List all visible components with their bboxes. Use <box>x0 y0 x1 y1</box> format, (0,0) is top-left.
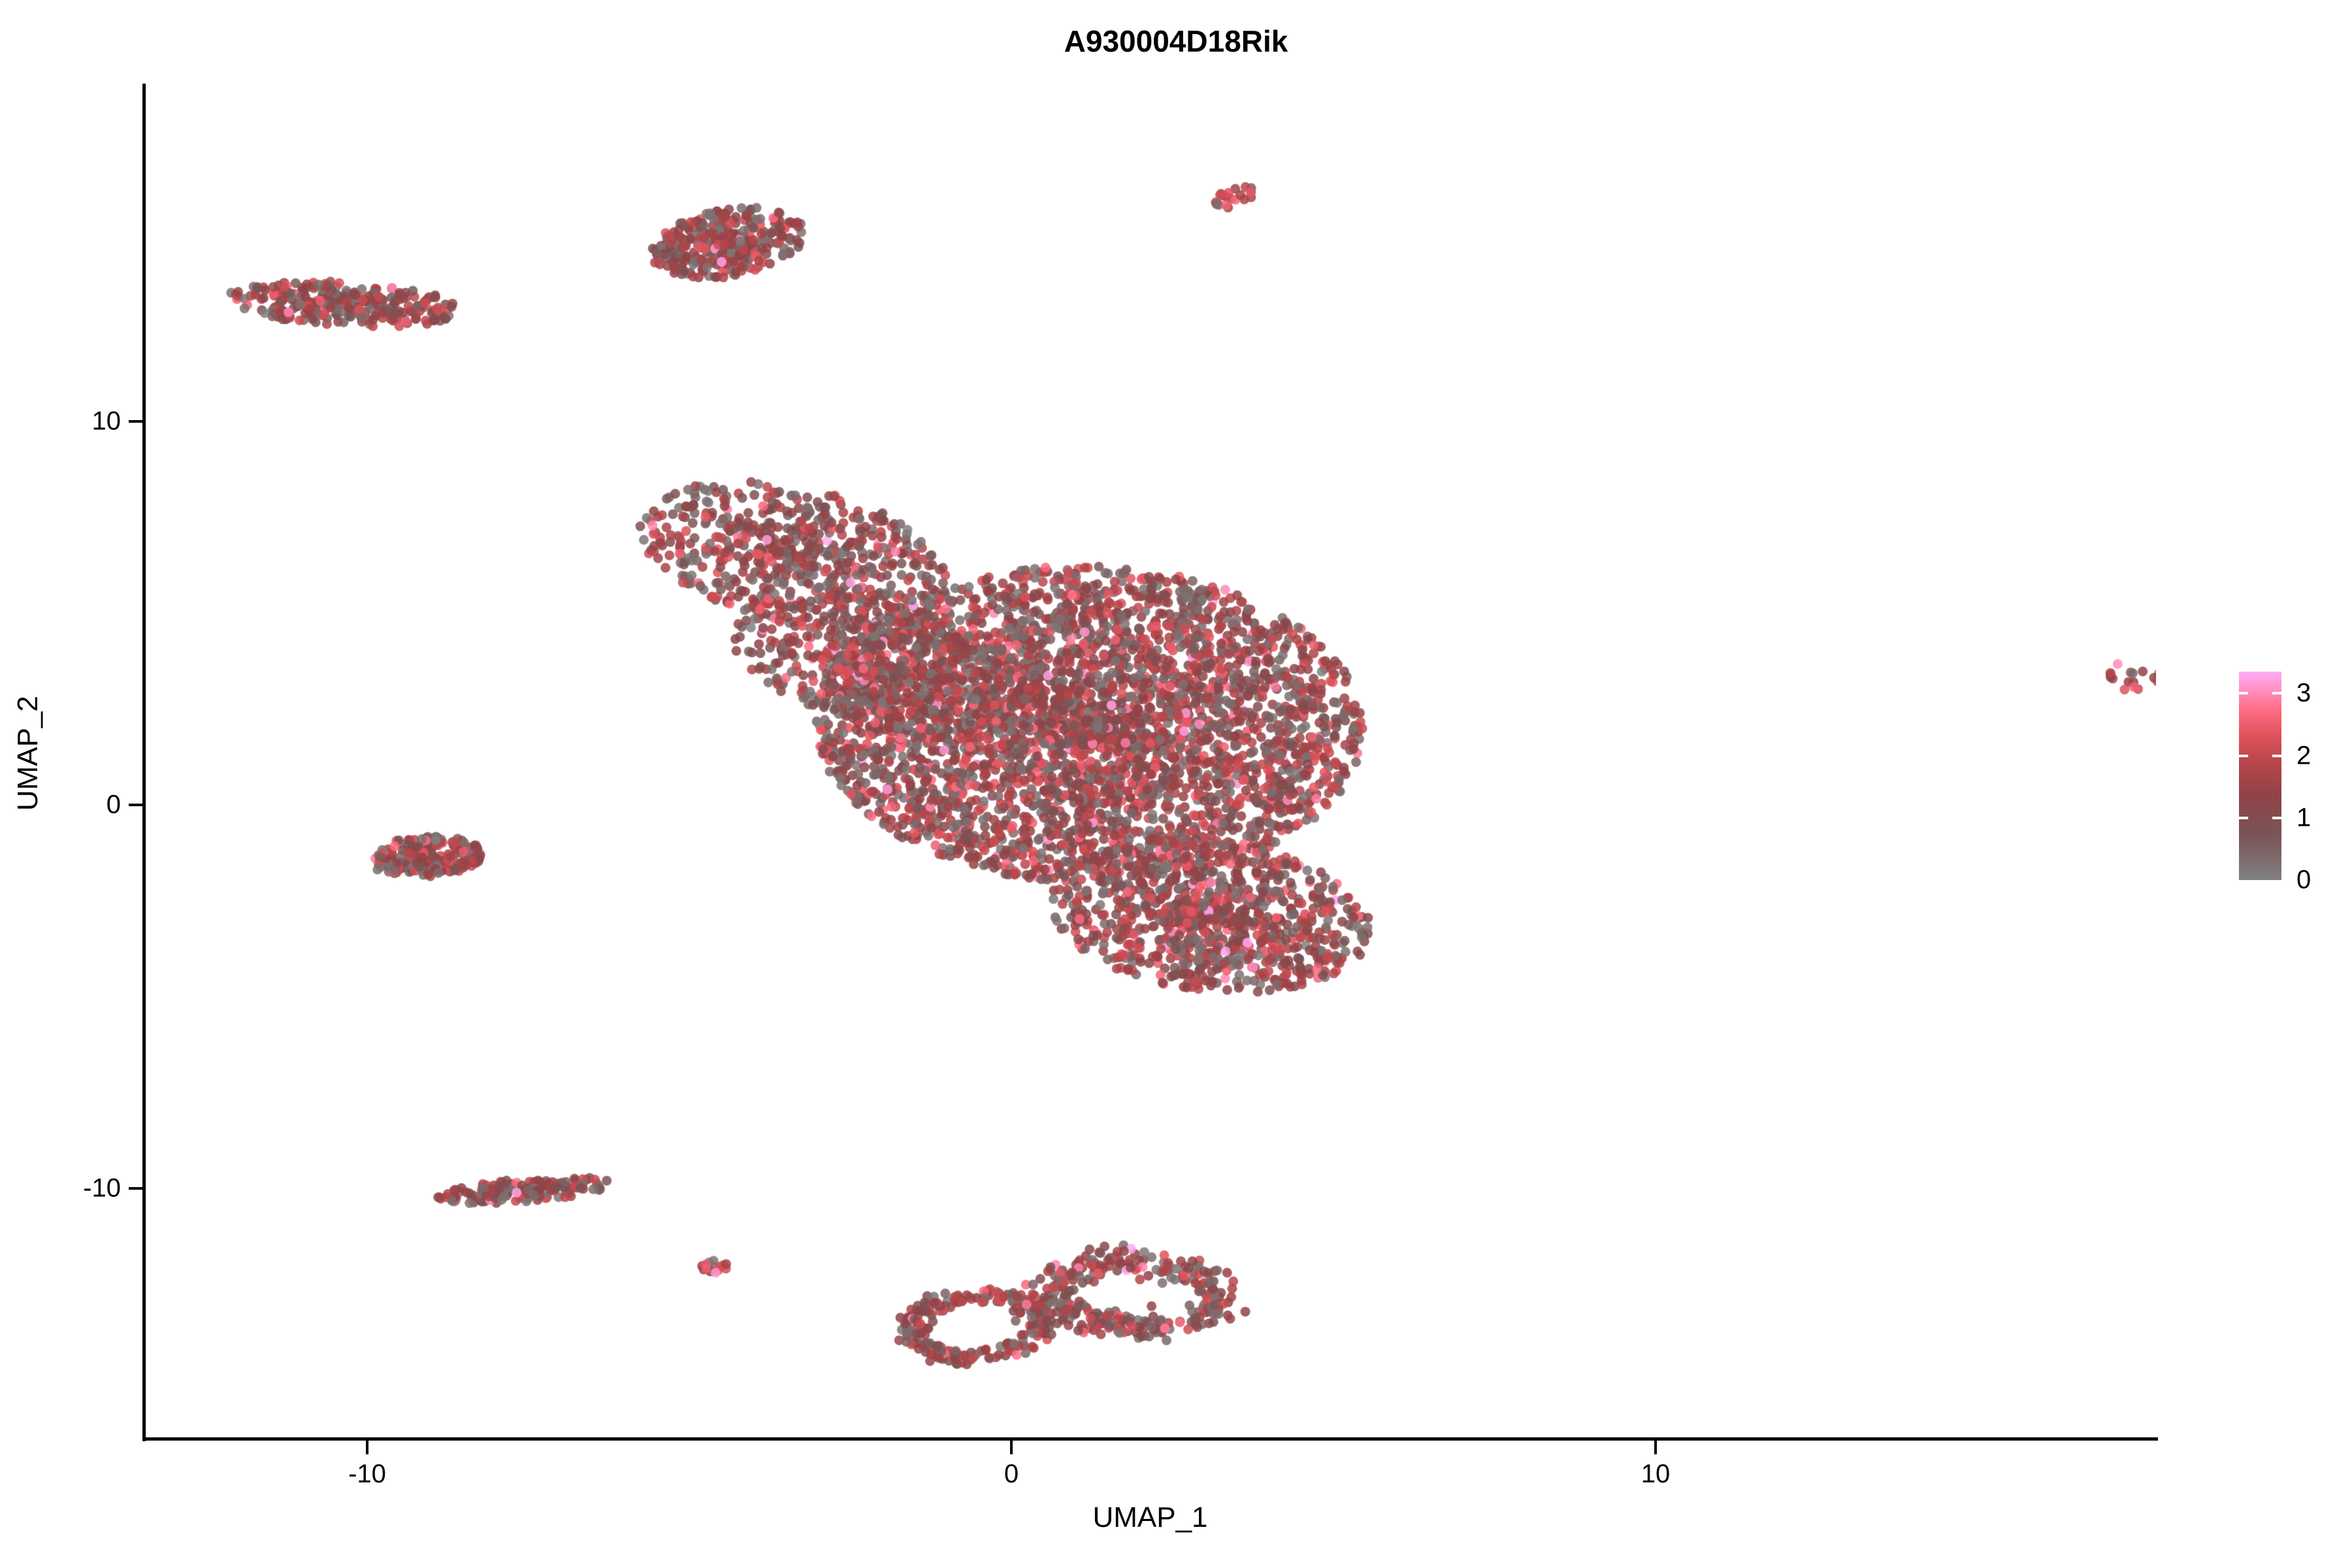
legend-tick-label: 3 <box>2296 679 2311 708</box>
umap-feature-plot: A930004D18Rik -10010 100-10 UMAP_1 UMAP_… <box>0 0 2352 1568</box>
legend-tick-mark <box>2239 817 2248 819</box>
legend-tick-mark <box>2272 692 2281 694</box>
y-tick-mark <box>129 804 142 806</box>
legend-tick-label: 1 <box>2296 803 2311 832</box>
legend-tick-mark <box>2272 755 2281 757</box>
page-title: A930004D18Rik <box>0 24 2352 59</box>
legend-tick-mark <box>2239 755 2248 757</box>
x-tick-mark <box>366 1441 368 1454</box>
y-axis-title: UMAP_2 <box>12 427 44 1080</box>
y-axis-line <box>142 84 146 1441</box>
legend-tick-label: 0 <box>2296 866 2311 895</box>
scatter-points-canvas <box>144 85 2156 1439</box>
x-tick-label: 10 <box>1641 1460 1671 1489</box>
y-tick-mark <box>129 1187 142 1190</box>
legend-tick-mark <box>2272 817 2281 819</box>
color-legend: 3210 <box>2239 672 2337 881</box>
y-tick-label: -10 <box>0 1174 121 1203</box>
plot-panel <box>144 85 2156 1439</box>
legend-colorbar <box>2239 672 2281 880</box>
legend-tick-mark <box>2239 692 2248 694</box>
x-axis-title: UMAP_1 <box>142 1501 2158 1534</box>
y-tick-mark <box>129 420 142 423</box>
x-tick-label: 0 <box>1004 1460 1019 1489</box>
x-tick-mark <box>1654 1441 1657 1454</box>
x-tick-mark <box>1010 1441 1013 1454</box>
x-tick-label: -10 <box>348 1460 386 1489</box>
x-axis-line <box>142 1437 2158 1441</box>
legend-tick-label: 2 <box>2296 741 2311 770</box>
